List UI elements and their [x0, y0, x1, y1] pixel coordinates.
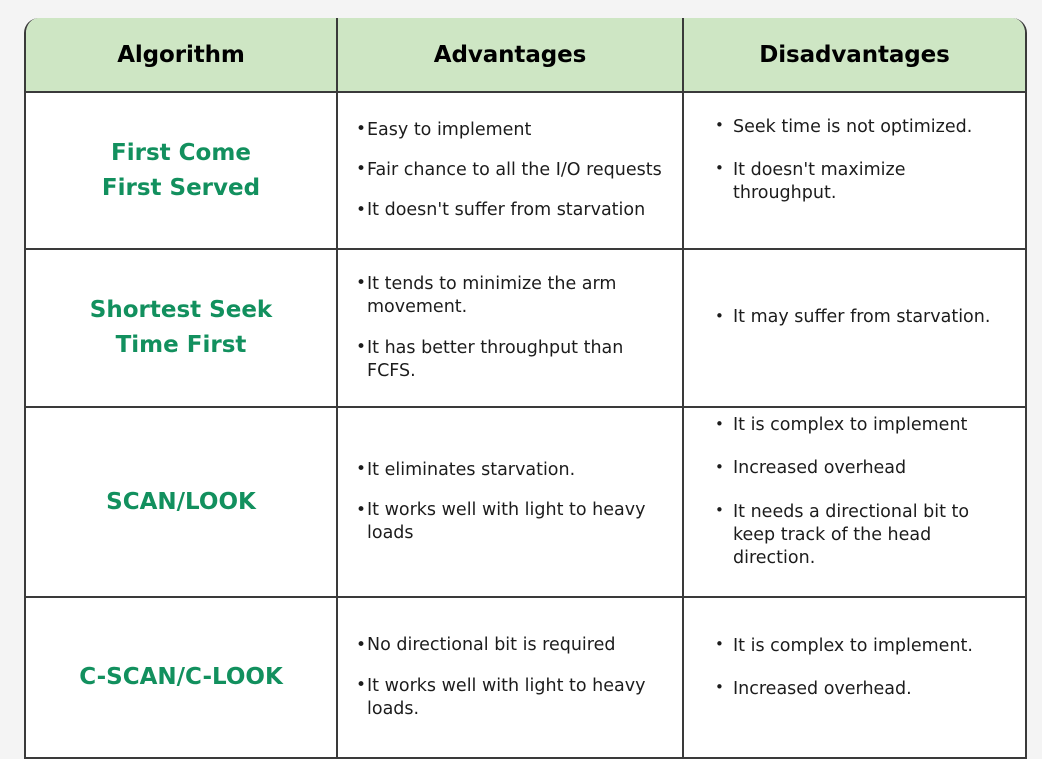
algorithm-name-line: Time First [38, 328, 324, 363]
algorithm-name-line: C-SCAN/C-LOOK [38, 660, 324, 695]
table-row: First Come First Served Easy to implemen… [26, 93, 1025, 250]
table-row: Shortest Seek Time First It tends to min… [26, 250, 1025, 408]
list-item: It works well with light to heavy loads [356, 499, 668, 546]
list-item: It needs a directional bit to keep track… [714, 501, 1011, 571]
header-row: Algorithm Advantages Disadvantages [26, 18, 1025, 93]
advantages-cell: It eliminates starvation. It works well … [338, 408, 684, 598]
algorithm-name-line: First Come [38, 136, 324, 171]
advantages-list: It eliminates starvation. It works well … [356, 459, 668, 546]
list-item: It doesn't maximize throughput. [714, 159, 1011, 206]
list-item: Easy to implement [356, 119, 668, 142]
disadvantages-cell: It may suffer from starvation. [684, 250, 1025, 408]
algorithm-comparison-table: Algorithm Advantages Disadvantages First… [24, 18, 1027, 759]
list-item: It doesn't suffer from starvation [356, 199, 668, 222]
disadvantages-cell: It is complex to implement. Increased ov… [684, 598, 1025, 757]
table-body: First Come First Served Easy to implemen… [26, 93, 1025, 757]
disadvantages-list: It is complex to implement. Increased ov… [714, 635, 1011, 702]
advantages-cell: Easy to implement Fair chance to all the… [338, 93, 684, 250]
list-item: It is complex to implement. [714, 635, 1011, 658]
list-item: No directional bit is required [356, 634, 668, 657]
list-item: Seek time is not optimized. [714, 116, 1011, 139]
disadvantages-cell: Seek time is not optimized. It doesn't m… [684, 93, 1025, 250]
disadvantages-list: It may suffer from starvation. [714, 306, 1011, 329]
list-item: Increased overhead [714, 457, 1011, 480]
column-header-disadvantages: Disadvantages [684, 18, 1025, 93]
advantages-list: It tends to minimize the arm movement. I… [356, 273, 668, 383]
list-item: Fair chance to all the I/O requests [356, 159, 668, 182]
advantages-list: Easy to implement Fair chance to all the… [356, 119, 668, 223]
table-row: SCAN/LOOK It eliminates starvation. It w… [26, 408, 1025, 598]
disadvantages-list: It is complex to implement Increased ove… [714, 414, 1011, 570]
comparison-table-container: Algorithm Advantages Disadvantages First… [24, 18, 1023, 726]
algorithm-name-line: First Served [38, 171, 324, 206]
algorithm-name-line: SCAN/LOOK [38, 485, 324, 520]
algorithm-name-cell: C-SCAN/C-LOOK [26, 598, 338, 757]
list-item: Increased overhead. [714, 678, 1011, 701]
list-item: It may suffer from starvation. [714, 306, 1011, 329]
table-header: Algorithm Advantages Disadvantages [26, 18, 1025, 93]
advantages-cell: It tends to minimize the arm movement. I… [338, 250, 684, 408]
list-item: It eliminates starvation. [356, 459, 668, 482]
algorithm-name-cell: SCAN/LOOK [26, 408, 338, 598]
disadvantages-cell: It is complex to implement Increased ove… [684, 408, 1025, 598]
algorithm-name-line: Shortest Seek [38, 293, 324, 328]
advantages-list: No directional bit is required It works … [356, 634, 668, 721]
disadvantages-list: Seek time is not optimized. It doesn't m… [714, 116, 1011, 206]
advantages-cell: No directional bit is required It works … [338, 598, 684, 757]
list-item: It has better throughput than FCFS. [356, 337, 668, 384]
list-item: It tends to minimize the arm movement. [356, 273, 668, 320]
algorithm-name-cell: Shortest Seek Time First [26, 250, 338, 408]
algorithm-name-cell: First Come First Served [26, 93, 338, 250]
list-item: It works well with light to heavy loads. [356, 675, 668, 722]
list-item: It is complex to implement [714, 414, 1011, 437]
column-header-advantages: Advantages [338, 18, 684, 93]
column-header-algorithm: Algorithm [26, 18, 338, 93]
table-row: C-SCAN/C-LOOK No directional bit is requ… [26, 598, 1025, 757]
